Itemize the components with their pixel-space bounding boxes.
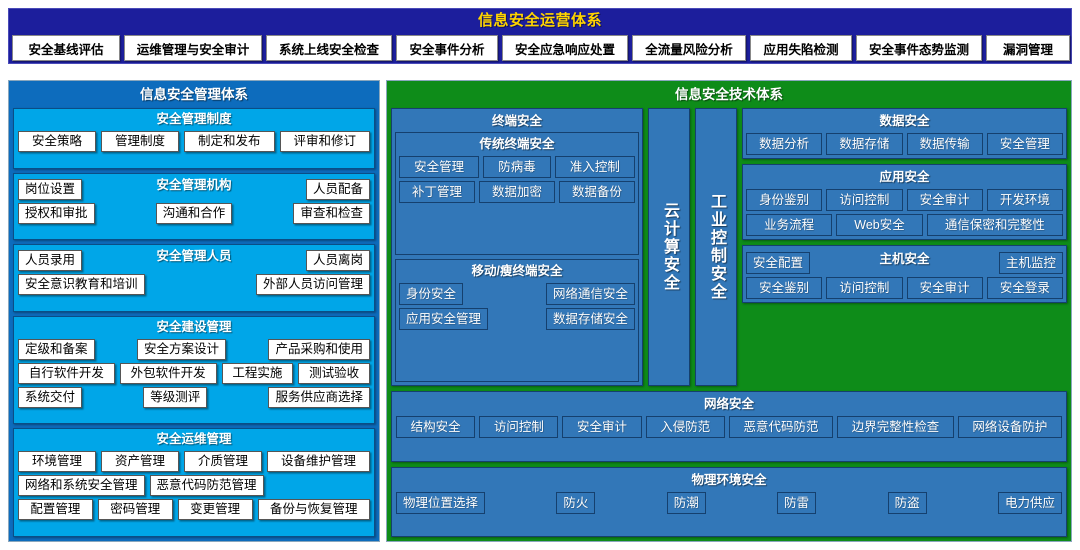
management-chip-item[interactable]: 网络和系统安全管理 <box>18 475 145 496</box>
management-system-title: 信息安全管理体系 <box>13 85 375 105</box>
management-group-2: 安全管理人员人员录用人员离岗安全意识教育和培训外部人员访问管理 <box>13 244 375 312</box>
host-security-box: 主机安全 安全配置主机监控安全鉴别访问控制安全审计安全登录 <box>742 245 1067 303</box>
management-chip-item[interactable]: 外部人员访问管理 <box>256 274 370 295</box>
data-security-rows: 数据分析数据存储数据传输安全管理 <box>746 130 1063 155</box>
terminal-chip-item[interactable]: 补丁管理 <box>399 181 475 203</box>
host-security-chip-item[interactable]: 安全审计 <box>907 277 983 299</box>
management-chip-item[interactable]: 设备维护管理 <box>267 451 370 472</box>
management-chip-row: 网络和系统安全管理恶意代码防范管理 <box>18 475 370 496</box>
data-security-title: 数据安全 <box>746 112 1063 130</box>
management-chip-item[interactable]: 制定和发布 <box>184 131 275 152</box>
host-security-chip-item[interactable]: 访问控制 <box>826 277 902 299</box>
host-security-chip-row: 安全配置主机监控 <box>746 252 1063 274</box>
app-security-chip-item[interactable]: 身份鉴别 <box>746 189 822 211</box>
nav-button-3[interactable]: 安全事件分析 <box>396 35 498 61</box>
nav-button-2[interactable]: 系统上线安全检查 <box>266 35 392 61</box>
terminal-chip-item[interactable]: 数据加密 <box>479 181 555 203</box>
management-chip-item[interactable]: 管理制度 <box>101 131 179 152</box>
management-group-1: 安全管理机构岗位设置人员配备授权和审批沟通和合作审查和检查 <box>13 173 375 241</box>
network-security-chip-item[interactable]: 结构安全 <box>396 416 475 438</box>
terminal-chip-item[interactable]: 安全管理 <box>399 156 479 178</box>
management-group-4: 安全运维管理环境管理资产管理介质管理设备维护管理网络和系统安全管理恶意代码防范管… <box>13 428 375 537</box>
network-security-rows: 结构安全访问控制安全审计入侵防范恶意代码防范边界完整性检查网络设备防护 <box>396 413 1062 438</box>
app-security-chip-item[interactable]: 通信保密和完整性 <box>927 214 1063 236</box>
terminal-chip-item[interactable]: 准入控制 <box>555 156 635 178</box>
host-security-chip-item[interactable]: 安全鉴别 <box>746 277 822 299</box>
management-chip-item[interactable]: 工程实施 <box>222 363 294 384</box>
management-chip-item[interactable]: 评审和修订 <box>280 131 371 152</box>
network-security-chip-item[interactable]: 网络设备防护 <box>958 416 1062 438</box>
physical-security-chip-item[interactable]: 电力供应 <box>998 492 1062 514</box>
host-security-chip-item[interactable]: 安全配置 <box>746 252 810 274</box>
management-chip-item[interactable]: 授权和审批 <box>18 203 95 224</box>
management-chip-row: 授权和审批沟通和合作审查和检查 <box>18 203 370 224</box>
terminal-chip-item[interactable]: 数据存储安全 <box>546 308 635 330</box>
data-security-box: 数据安全 数据分析数据存储数据传输安全管理 <box>742 108 1067 159</box>
management-chip-row: 定级和备案安全方案设计产品采购和使用 <box>18 339 370 360</box>
terminal-chip-row: 身份安全网络通信安全 <box>399 283 635 305</box>
nav-button-1[interactable]: 运维管理与安全审计 <box>124 35 262 61</box>
management-group-title: 安全运维管理 <box>18 431 370 448</box>
network-security-chip-item[interactable]: 入侵防范 <box>646 416 725 438</box>
terminal-subgroup-0: 传统终端安全安全管理防病毒准入控制补丁管理数据加密数据备份 <box>395 132 639 255</box>
network-security-chip-item[interactable]: 恶意代码防范 <box>729 416 833 438</box>
top-banner: 信息安全运营体系 安全基线评估运维管理与安全审计系统上线安全检查安全事件分析安全… <box>8 8 1072 64</box>
app-security-title: 应用安全 <box>746 168 1063 186</box>
host-security-chip-row: 安全鉴别访问控制安全审计安全登录 <box>746 277 1063 299</box>
management-chip-item[interactable]: 安全策略 <box>18 131 96 152</box>
management-group-list: 安全管理制度安全策略管理制度制定和发布评审和修订安全管理机构岗位设置人员配备授权… <box>13 108 375 537</box>
technical-system-panel: 信息安全技术体系 终端安全 传统终端安全安全管理防病毒准入控制补丁管理数据加密数… <box>386 80 1072 542</box>
management-chip-item[interactable]: 安全方案设计 <box>137 339 226 360</box>
network-security-chip-item[interactable]: 访问控制 <box>479 416 558 438</box>
management-chip-row: 配置管理密码管理变更管理备份与恢复管理 <box>18 499 370 520</box>
network-security-box: 网络安全 结构安全访问控制安全审计入侵防范恶意代码防范边界完整性检查网络设备防护 <box>391 391 1067 462</box>
network-security-chip-item[interactable]: 安全审计 <box>562 416 641 438</box>
physical-security-rows: 物理位置选择防火防潮防雷防盗电力供应 <box>396 489 1062 514</box>
host-security-chip-item[interactable]: 主机监控 <box>999 252 1063 274</box>
app-security-rows: 身份鉴别访问控制安全审计开发环境业务流程Web安全通信保密和完整性 <box>746 186 1063 236</box>
management-chip-item[interactable]: 备份与恢复管理 <box>258 499 370 520</box>
terminal-subgroup-title: 传统终端安全 <box>399 135 635 153</box>
diagram-root: 信息安全运营体系 安全基线评估运维管理与安全审计系统上线安全检查安全事件分析安全… <box>0 0 1080 550</box>
app-security-box: 应用安全 身份鉴别访问控制安全审计开发环境业务流程Web安全通信保密和完整性 <box>742 164 1067 240</box>
data-security-chip-item[interactable]: 数据分析 <box>746 133 822 155</box>
app-security-chip-row: 身份鉴别访问控制安全审计开发环境 <box>746 189 1063 211</box>
vertical-box-label: 云计算安全 <box>657 202 681 292</box>
app-security-chip-row: 业务流程Web安全通信保密和完整性 <box>746 214 1063 236</box>
management-chip-row: 系统交付等级测评服务供应商选择 <box>18 387 370 408</box>
app-security-chip-item[interactable]: 安全审计 <box>907 189 983 211</box>
management-chip-row: 环境管理资产管理介质管理设备维护管理 <box>18 451 370 472</box>
management-chip-item[interactable]: 资产管理 <box>101 451 179 472</box>
network-security-chip-item[interactable]: 边界完整性检查 <box>837 416 954 438</box>
terminal-chip-row: 补丁管理数据加密数据备份 <box>399 181 635 203</box>
app-security-chip-item[interactable]: 业务流程 <box>746 214 832 236</box>
physical-security-chip-item[interactable]: 防火 <box>556 492 595 514</box>
management-chip-item[interactable]: 沟通和合作 <box>156 203 233 224</box>
banner-title: 信息安全运营体系 <box>9 9 1071 33</box>
management-chip-item[interactable]: 测试验收 <box>298 363 370 384</box>
technical-lower-row: 网络安全 结构安全访问控制安全审计入侵防范恶意代码防范边界完整性检查网络设备防护… <box>391 391 1067 537</box>
management-chip-item[interactable]: 变更管理 <box>178 499 253 520</box>
physical-security-chip-row: 物理位置选择防火防潮防雷防盗电力供应 <box>396 492 1062 514</box>
management-group-0: 安全管理制度安全策略管理制度制定和发布评审和修订 <box>13 108 375 169</box>
management-chip-item[interactable]: 介质管理 <box>184 451 262 472</box>
terminal-chip-item[interactable]: 防病毒 <box>483 156 551 178</box>
terminal-subgroup-list: 传统终端安全安全管理防病毒准入控制补丁管理数据加密数据备份移动/瘦终端安全身份安… <box>395 132 639 382</box>
management-chip-item[interactable]: 系统交付 <box>18 387 82 408</box>
management-chip-row: 人员录用人员离岗 <box>18 250 370 271</box>
data-security-chip-item[interactable]: 安全管理 <box>987 133 1063 155</box>
app-security-chip-item[interactable]: 访问控制 <box>826 189 902 211</box>
terminal-subgroup-title: 移动/瘦终端安全 <box>399 262 635 280</box>
host-security-rows: 安全配置主机监控安全鉴别访问控制安全审计安全登录 <box>746 249 1063 299</box>
nav-button-8[interactable]: 漏洞管理 <box>986 35 1070 61</box>
management-chip-item[interactable]: 人员离岗 <box>306 250 370 271</box>
management-chip-row: 自行软件开发外包软件开发工程实施测试验收 <box>18 363 370 384</box>
vertical-box-group: 云计算安全工业控制安全 <box>648 108 737 386</box>
terminal-chip-item[interactable]: 网络通信安全 <box>546 283 635 305</box>
technical-system-title: 信息安全技术体系 <box>391 85 1067 105</box>
physical-security-chip-item[interactable]: 防盗 <box>888 492 927 514</box>
terminal-chip-item[interactable]: 应用安全管理 <box>399 308 488 330</box>
management-chip-row: 安全意识教育和培训外部人员访问管理 <box>18 274 370 295</box>
network-security-title: 网络安全 <box>396 395 1062 413</box>
vertical-box-0[interactable]: 云计算安全 <box>648 108 690 386</box>
management-chip-item[interactable]: 等级测评 <box>143 387 207 408</box>
management-chip-item[interactable]: 恶意代码防范管理 <box>150 475 264 496</box>
management-group-title: 安全管理制度 <box>18 111 370 128</box>
data-security-chip-item[interactable]: 数据传输 <box>907 133 983 155</box>
nav-button-4[interactable]: 安全应急响应处置 <box>502 35 628 61</box>
management-chip-item[interactable]: 岗位设置 <box>18 179 82 200</box>
nav-button-0[interactable]: 安全基线评估 <box>12 35 120 61</box>
physical-security-box: 物理环境安全 物理位置选择防火防潮防雷防盗电力供应 <box>391 467 1067 538</box>
management-chip-item[interactable]: 定级和备案 <box>18 339 95 360</box>
management-system-panel: 信息安全管理体系 安全管理制度安全策略管理制度制定和发布评审和修订安全管理机构岗… <box>8 80 380 542</box>
host-security-chip-item[interactable]: 安全登录 <box>987 277 1063 299</box>
app-security-chip-item[interactable]: Web安全 <box>836 214 923 236</box>
management-group-title: 安全建设管理 <box>18 319 370 336</box>
terminal-chip-item[interactable]: 身份安全 <box>399 283 463 305</box>
terminal-security-title: 终端安全 <box>395 112 639 130</box>
management-chip-item[interactable]: 人员配备 <box>306 179 370 200</box>
nav-button-6[interactable]: 应用失陷检测 <box>750 35 852 61</box>
terminal-chip-item[interactable]: 数据备份 <box>559 181 635 203</box>
network-security-chip-row: 结构安全访问控制安全审计入侵防范恶意代码防范边界完整性检查网络设备防护 <box>396 416 1062 438</box>
physical-security-chip-item[interactable]: 防雷 <box>777 492 816 514</box>
management-chip-item[interactable]: 产品采购和使用 <box>268 339 370 360</box>
management-chip-item[interactable]: 外包软件开发 <box>120 363 217 384</box>
technical-upper-row: 终端安全 传统终端安全安全管理防病毒准入控制补丁管理数据加密数据备份移动/瘦终端… <box>391 108 1067 386</box>
management-chip-row: 安全策略管理制度制定和发布评审和修订 <box>18 131 370 152</box>
management-chip-item[interactable]: 安全意识教育和培训 <box>18 274 145 295</box>
management-chip-row: 岗位设置人员配备 <box>18 179 370 200</box>
terminal-chip-row: 应用安全管理数据存储安全 <box>399 308 635 330</box>
technical-right-column: 数据安全 数据分析数据存储数据传输安全管理 应用安全 身份鉴别访问控制安全审计开… <box>742 108 1067 386</box>
app-security-chip-item[interactable]: 开发环境 <box>987 189 1063 211</box>
terminal-subgroup-1: 移动/瘦终端安全身份安全网络通信安全应用安全管理数据存储安全 <box>395 259 639 382</box>
management-chip-item[interactable]: 服务供应商选择 <box>268 387 370 408</box>
nav-button-7[interactable]: 安全事件态势监测 <box>856 35 982 61</box>
terminal-chip-row: 安全管理防病毒准入控制 <box>399 156 635 178</box>
vertical-box-1[interactable]: 工业控制安全 <box>695 108 737 386</box>
physical-security-chip-item[interactable]: 物理位置选择 <box>396 492 485 514</box>
data-security-chip-item[interactable]: 数据存储 <box>826 133 902 155</box>
management-chip-item[interactable]: 自行软件开发 <box>18 363 115 384</box>
nav-button-5[interactable]: 全流量风险分析 <box>632 35 746 61</box>
management-chip-item[interactable]: 密码管理 <box>98 499 173 520</box>
management-chip-item[interactable]: 配置管理 <box>18 499 93 520</box>
nav-button-row: 安全基线评估运维管理与安全审计系统上线安全检查安全事件分析安全应急响应处置全流量… <box>12 35 1068 61</box>
physical-security-chip-item[interactable]: 防潮 <box>667 492 706 514</box>
management-chip-item[interactable]: 环境管理 <box>18 451 96 472</box>
management-group-3: 安全建设管理定级和备案安全方案设计产品采购和使用自行软件开发外包软件开发工程实施… <box>13 316 375 425</box>
management-chip-item[interactable]: 审查和检查 <box>293 203 370 224</box>
terminal-security-box: 终端安全 传统终端安全安全管理防病毒准入控制补丁管理数据加密数据备份移动/瘦终端… <box>391 108 643 386</box>
data-security-chip-row: 数据分析数据存储数据传输安全管理 <box>746 133 1063 155</box>
management-chip-item[interactable]: 人员录用 <box>18 250 82 271</box>
physical-security-title: 物理环境安全 <box>396 471 1062 489</box>
vertical-box-label: 工业控制安全 <box>704 193 728 301</box>
